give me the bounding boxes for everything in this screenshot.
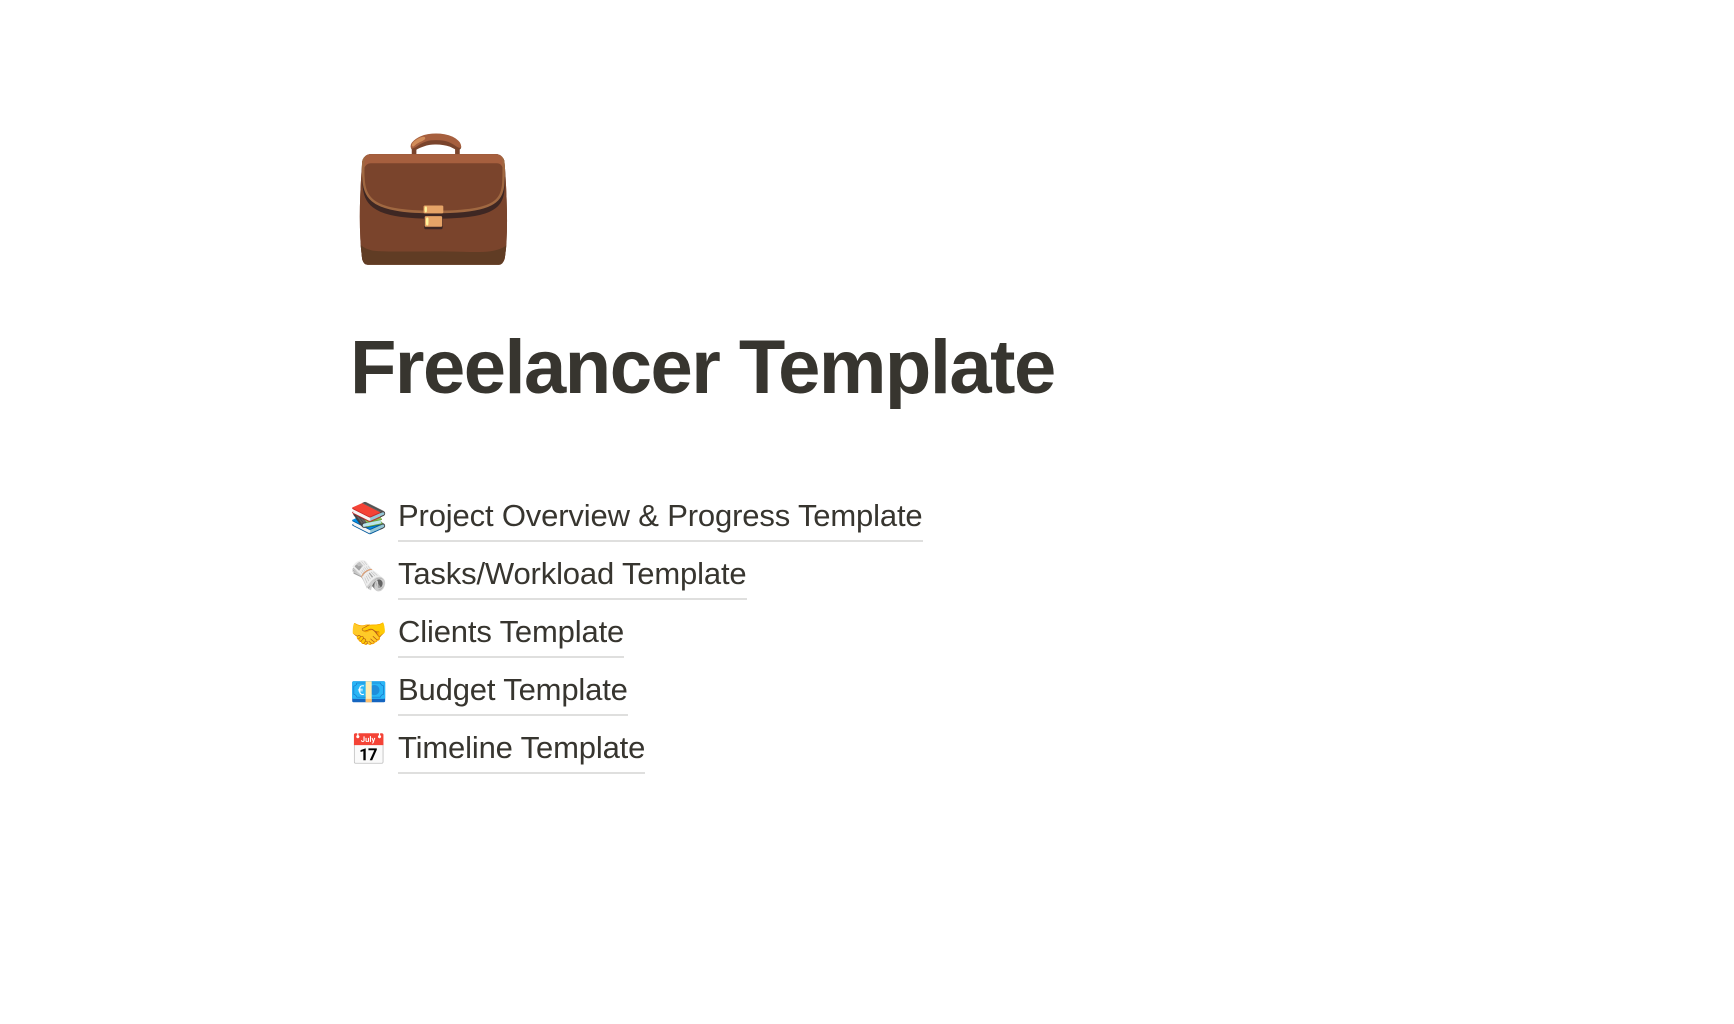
- list-item[interactable]: 🗞️ Tasks/Workload Template: [350, 548, 1650, 606]
- link-project-overview-progress-template[interactable]: Project Overview & Progress Template: [398, 496, 923, 542]
- list-item[interactable]: 📅 Timeline Template: [350, 722, 1650, 780]
- list-item[interactable]: 🤝 Clients Template: [350, 606, 1650, 664]
- list-item[interactable]: 📚 Project Overview & Progress Template: [350, 490, 1650, 548]
- page-canvas: 💼 Freelancer Template 📚 Project Overview…: [0, 0, 1734, 1024]
- books-emoji: 📚: [350, 501, 386, 537]
- template-link-list: 📚 Project Overview & Progress Template 🗞…: [350, 490, 1650, 780]
- calendar-emoji: 📅: [350, 733, 386, 769]
- rolled-up-newspaper-emoji: 🗞️: [350, 559, 386, 595]
- page-content: 💼 Freelancer Template 📚 Project Overview…: [350, 0, 1650, 780]
- list-item[interactable]: 💶 Budget Template: [350, 664, 1650, 722]
- briefcase-emoji[interactable]: 💼: [350, 112, 508, 270]
- handshake-emoji: 🤝: [350, 617, 386, 653]
- link-timeline-template[interactable]: Timeline Template: [398, 728, 645, 774]
- link-budget-template[interactable]: Budget Template: [398, 670, 628, 716]
- page-title: Freelancer Template: [350, 322, 1650, 414]
- euro-banknote-emoji: 💶: [350, 675, 386, 711]
- link-tasks-workload-template[interactable]: Tasks/Workload Template: [398, 554, 747, 600]
- link-clients-template[interactable]: Clients Template: [398, 612, 624, 658]
